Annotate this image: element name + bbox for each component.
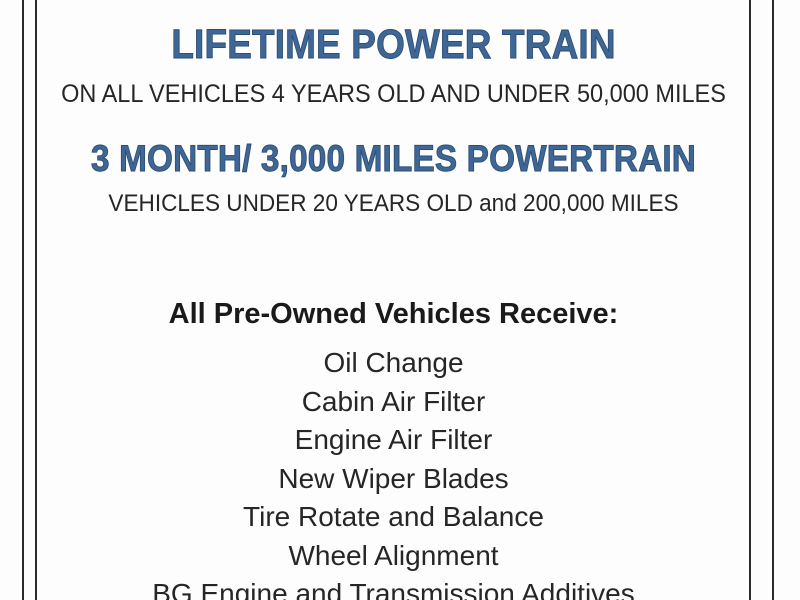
service-item: Oil Change bbox=[38, 344, 749, 383]
service-item: BG Engine and Transmission Additives bbox=[38, 575, 749, 600]
border-rule-right-inner bbox=[749, 0, 751, 600]
border-rule-right-outer bbox=[772, 0, 774, 600]
border-rule-left-inner bbox=[35, 0, 37, 600]
service-item: Tire Rotate and Balance bbox=[38, 498, 749, 537]
flyer-page: LIFETIME POWER TRAIN ON ALL VEHICLES 4 Y… bbox=[0, 0, 800, 600]
flyer-content: LIFETIME POWER TRAIN ON ALL VEHICLES 4 Y… bbox=[38, 0, 749, 600]
service-item: Wheel Alignment bbox=[38, 537, 749, 576]
service-item: Engine Air Filter bbox=[38, 421, 749, 460]
offer-headline-lifetime-powertrain: LIFETIME POWER TRAIN bbox=[74, 24, 714, 65]
service-item: Cabin Air Filter bbox=[38, 383, 749, 422]
services-title: All Pre-Owned Vehicles Receive: bbox=[38, 300, 749, 329]
offer-headline-3month-powertrain: 3 MONTH/ 3,000 MILES POWERTRAIN bbox=[74, 140, 714, 177]
offer-subline-3month-powertrain: VEHICLES UNDER 20 YEARS OLD and 200,000 … bbox=[59, 192, 727, 216]
service-item: New Wiper Blades bbox=[38, 460, 749, 499]
offer-subline-lifetime-powertrain: ON ALL VEHICLES 4 YEARS OLD AND UNDER 50… bbox=[59, 82, 727, 107]
border-rule-left-outer bbox=[22, 0, 24, 600]
services-section: All Pre-Owned Vehicles Receive: Oil Chan… bbox=[38, 300, 749, 600]
